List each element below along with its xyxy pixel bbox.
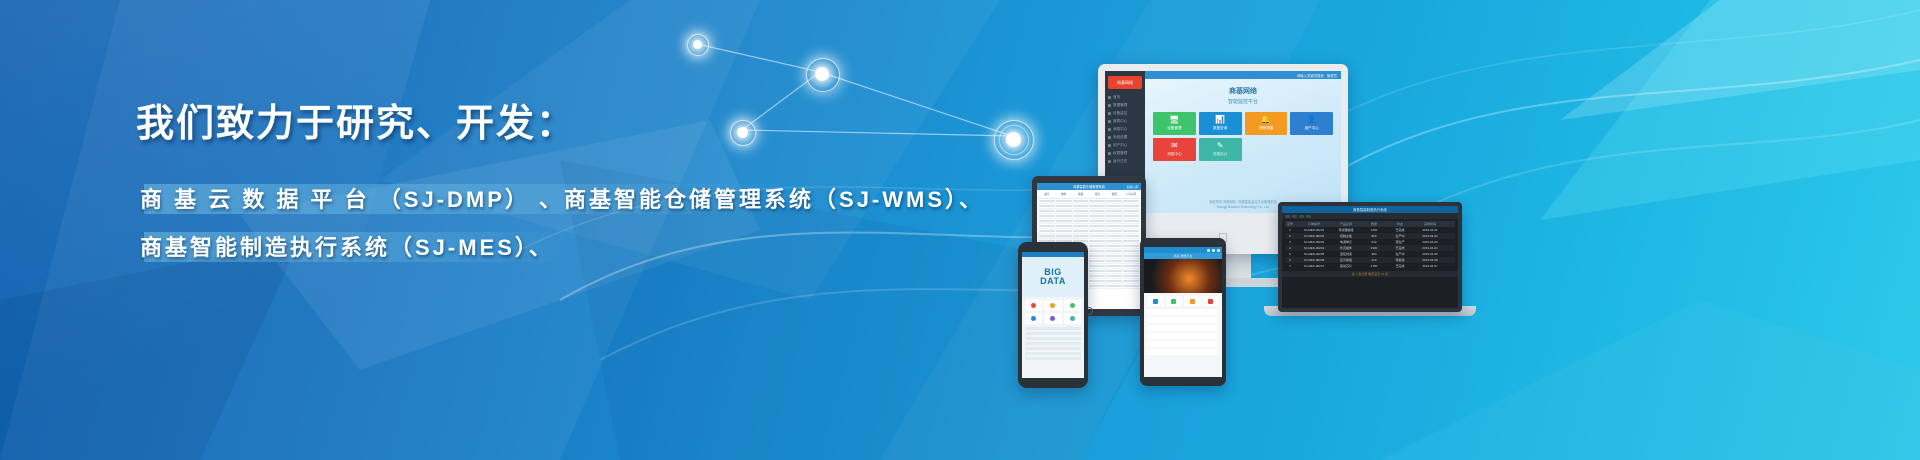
dashboard-tiles-row2: ✉ 消息中心 ✎ 在线办公 — [1153, 138, 1333, 161]
page-title: 我们致力于研究、开发： — [136, 92, 576, 147]
app-icon — [1208, 299, 1213, 304]
wms-action-button[interactable]: 新增入库 — [1127, 185, 1138, 189]
table-cell — [1089, 250, 1105, 252]
sidebar-item-label: 首页 — [1113, 95, 1120, 100]
bullet-icon — [1108, 96, 1111, 99]
table-cell: 7 — [1285, 264, 1295, 268]
phone-app-4[interactable] — [1044, 313, 1061, 324]
table-cell: SJ-MES-00233 — [1297, 240, 1331, 244]
battery-icon — [1217, 249, 1220, 252]
app-icon — [1050, 316, 1055, 321]
table-cell: 1200 — [1361, 228, 1387, 232]
table-cell — [1089, 275, 1105, 277]
table-row[interactable]: 7SJ-MES-00237驱动芯片1750已完成2019-04-07 — [1285, 263, 1455, 269]
table-cell — [1039, 225, 1055, 227]
table-cell — [1039, 200, 1055, 202]
table-cell: 连接线束 — [1333, 252, 1359, 256]
wms-title-bar: 商基智能仓储管理系统 新增入库 — [1037, 183, 1141, 190]
table-cell: 2019-04-04 — [1413, 246, 1447, 250]
tile-label: 在线办公 — [1213, 152, 1227, 157]
sidebar-item-label: 用户中心 — [1113, 143, 1127, 148]
table-cell: 410 — [1361, 258, 1387, 262]
dashboard-main: 请输入关键词搜索 管理员 商基网络 智能监控平台 🖥 设备管理 📊 数据查询 — [1145, 71, 1341, 213]
table-cell: 生产中 — [1389, 234, 1411, 238]
list-item[interactable] — [1147, 349, 1219, 355]
table-cell — [1123, 230, 1139, 232]
sidebar-item-8[interactable]: 运行日志 — [1108, 157, 1142, 165]
mes-table-body: 1SJ-MES-00231传感器模组1200已完成2019-04-012SJ-M… — [1285, 227, 1455, 269]
phone-app-0[interactable] — [1025, 300, 1042, 311]
sidebar-item-1[interactable]: 数据管理 — [1108, 101, 1142, 109]
banner-copy: 我们致力于研究、开发： 商 基 云 数 据 平 台 （SJ-DMP） 、商基智能… — [0, 0, 1000, 460]
table-cell: 驱动芯片 — [1333, 264, 1359, 268]
sidebar-item-7[interactable]: 权限管理 — [1108, 149, 1142, 157]
table-cell — [1073, 200, 1089, 202]
sidebar-item-label: 系统设置 — [1113, 135, 1127, 140]
table-cell — [1039, 230, 1055, 232]
sidebar-item-5[interactable]: 系统设置 — [1108, 133, 1142, 141]
table-cell — [1123, 275, 1139, 277]
table-cell — [1089, 260, 1105, 262]
list-item[interactable] — [1025, 337, 1081, 340]
table-cell — [1106, 280, 1122, 282]
table-cell — [1123, 250, 1139, 252]
table-cell: 5 — [1285, 252, 1295, 256]
column-header: 入库时间 — [1123, 192, 1139, 196]
column-header: 产品名称 — [1333, 222, 1359, 226]
app-icon — [1031, 303, 1036, 308]
bullet-icon — [1108, 112, 1111, 115]
table-cell — [1123, 200, 1139, 202]
table-cell: SJ-MES-00232 — [1297, 234, 1331, 238]
phone-list — [1022, 327, 1084, 360]
table-cell: 1 — [1285, 228, 1295, 232]
table-cell — [1089, 225, 1105, 227]
table-cell — [1089, 235, 1105, 237]
mes-footer: 共 7 条记录 每页显示 20 条 — [1282, 271, 1458, 277]
table-cell: 6 — [1285, 258, 1295, 262]
media-app-3[interactable] — [1203, 296, 1220, 306]
phone-screen: BIG DATA — [1022, 252, 1084, 378]
table-cell: 860 — [1361, 234, 1387, 238]
media-hero-image — [1144, 259, 1222, 293]
product-line-1: 商 基 云 数 据 平 台 （SJ-DMP） 、商基智能仓储管理系统（SJ-WM… — [140, 178, 984, 218]
edit-icon: ✎ — [1217, 142, 1224, 150]
table-cell: 4 — [1285, 246, 1295, 250]
table-cell — [1106, 240, 1122, 242]
product-list: 商 基 云 数 据 平 台 （SJ-DMP） 、商基智能仓储管理系统（SJ-WM… — [140, 178, 984, 266]
tile-online-office[interactable]: ✎ 在线办公 — [1199, 138, 1242, 161]
table-cell — [1089, 285, 1105, 287]
table-cell — [1089, 255, 1105, 257]
product-line-2-text: 商基智能制造执行系统（SJ-MES）、 — [140, 230, 554, 262]
table-cell — [1089, 205, 1105, 207]
laptop-mockup: 商基智能制造执行系统 序号 订单编号 产品名称 数量 状态 完成时间 — [1272, 202, 1468, 322]
tile-device-manage[interactable]: 🖥 设备管理 — [1153, 112, 1196, 135]
bullet-icon — [1108, 136, 1111, 139]
table-cell: 2300 — [1361, 246, 1387, 250]
table-cell: 3 — [1285, 240, 1295, 244]
app-icon — [1153, 299, 1158, 304]
tile-label: 设备管理 — [1167, 126, 1181, 131]
hero-banner: 我们致力于研究、开发： 商 基 云 数 据 平 台 （SJ-DMP） 、商基智能… — [0, 0, 1920, 460]
table-cell — [1123, 245, 1139, 247]
column-header: 批次 — [1089, 192, 1105, 196]
app-icon — [1171, 299, 1176, 304]
product-line-1-text: 商 基 云 数 据 平 台 （SJ-DMP） 、商基智能仓储管理系统（SJ-WM… — [140, 182, 984, 214]
table-cell — [1089, 210, 1105, 212]
sidebar-item-label: 消息中心 — [1113, 127, 1127, 132]
bullet-icon — [1108, 152, 1111, 155]
table-cell — [1039, 215, 1055, 217]
table-cell — [1056, 235, 1072, 237]
table-cell — [1073, 235, 1089, 237]
tile-message-center[interactable]: ✉ 消息中心 — [1153, 138, 1196, 161]
mail-icon: ✉ — [1171, 142, 1178, 150]
dashboard-title: 商基网络 — [1145, 86, 1341, 96]
table-cell: 2019-04-03 — [1413, 240, 1447, 244]
user-icon: 👤 — [1307, 116, 1317, 124]
table-cell — [1123, 260, 1139, 262]
list-item[interactable] — [1025, 342, 1081, 345]
table-cell: 2 — [1285, 234, 1295, 238]
table-cell — [1106, 245, 1122, 247]
bullet-icon — [1108, 144, 1111, 147]
table-cell — [1123, 280, 1139, 282]
list-item[interactable] — [1025, 347, 1081, 350]
table-cell — [1056, 230, 1072, 232]
dashboard-topbar: 请输入关键词搜索 管理员 — [1145, 71, 1341, 79]
table-cell: 控制主板 — [1333, 234, 1359, 238]
table-cell — [1106, 265, 1122, 267]
sidebar-item-6[interactable]: 用户中心 — [1108, 141, 1142, 149]
table-cell: 传感器模组 — [1333, 228, 1359, 232]
table-cell: 2019-04-02 — [1413, 234, 1447, 238]
table-cell — [1073, 215, 1089, 217]
table-cell: SJ-MES-00231 — [1297, 228, 1331, 232]
column-header: 编号 — [1039, 192, 1055, 196]
sidebar-item-label: 报表中心 — [1113, 119, 1127, 124]
table-cell — [1039, 205, 1055, 207]
list-item[interactable] — [1147, 317, 1219, 323]
list-item[interactable] — [1025, 352, 1081, 355]
table-cell — [1106, 275, 1122, 277]
tile-label: 用户中心 — [1304, 126, 1318, 131]
table-cell: 待检验 — [1389, 258, 1411, 262]
table-cell: SJ-MES-00237 — [1297, 264, 1331, 268]
table-cell: 电源单元 — [1333, 240, 1359, 244]
bigdata-line-2: DATA — [1040, 277, 1066, 286]
table-cell: 2019-04-06 — [1413, 258, 1447, 262]
table-cell — [1123, 210, 1139, 212]
list-item[interactable] — [1147, 341, 1219, 347]
phone-icon-grid — [1022, 297, 1084, 327]
table-cell: 2019-04-07 — [1413, 264, 1447, 268]
table-cell — [1056, 215, 1072, 217]
wms-title: 商基智能仓储管理系统 — [1073, 184, 1105, 189]
bullet-icon — [1108, 128, 1111, 131]
table-cell — [1106, 250, 1122, 252]
table-cell — [1056, 200, 1072, 202]
bullet-icon — [1108, 160, 1111, 163]
table-cell — [1106, 215, 1122, 217]
table-cell — [1073, 205, 1089, 207]
media-app-1[interactable] — [1166, 296, 1183, 306]
table-cell: 显示模组 — [1333, 258, 1359, 262]
sidebar-item-3[interactable]: 报表中心 — [1108, 117, 1142, 125]
table-cell — [1039, 220, 1055, 222]
sidebar-item-4[interactable]: 消息中心 — [1108, 125, 1142, 133]
user-menu[interactable]: 管理员 — [1327, 73, 1337, 78]
table-cell: 外壳组件 — [1333, 246, 1359, 250]
table-cell — [1106, 285, 1122, 287]
search-input[interactable]: 请输入关键词搜索 — [1297, 73, 1324, 78]
table-cell: 2019-04-05 — [1413, 252, 1447, 256]
tablet-media-mockup: 商基 智能平台 — [1140, 238, 1226, 386]
table-cell — [1123, 255, 1139, 257]
toolbar-button-icon[interactable] — [1306, 215, 1311, 218]
table-cell — [1089, 265, 1105, 267]
table-cell — [1056, 205, 1072, 207]
table-cell — [1106, 205, 1122, 207]
tile-label: 数据查询 — [1213, 126, 1227, 131]
dashboard-subtitle: 智能监控平台 — [1145, 98, 1341, 105]
table-cell — [1089, 200, 1105, 202]
table-cell — [1123, 220, 1139, 222]
sidebar-logo: 商基网络 — [1108, 76, 1142, 89]
tile-alarm[interactable]: 🔔 报警提醒 — [1245, 112, 1288, 135]
table-cell: 已完成 — [1389, 264, 1411, 268]
table-cell — [1123, 270, 1139, 272]
table-cell — [1089, 270, 1105, 272]
table-cell — [1073, 210, 1089, 212]
wifi-icon — [1212, 249, 1215, 252]
table-cell — [1123, 225, 1139, 227]
table-cell: 已完成 — [1389, 228, 1411, 232]
mes-title-bar: 商基智能制造执行系统 — [1282, 206, 1458, 213]
sidebar-item-label: 数据管理 — [1113, 103, 1127, 108]
phone-app-3[interactable] — [1025, 313, 1042, 324]
sidebar-item-0[interactable]: 首页 — [1108, 93, 1142, 101]
table-cell: 待生产 — [1389, 240, 1411, 244]
column-header: 物料 — [1056, 192, 1072, 196]
bullet-icon — [1108, 120, 1111, 123]
wms-table-header: 编号 物料 规格 批次 数量 入库时间 — [1037, 190, 1141, 199]
table-cell — [1039, 235, 1055, 237]
table-cell: SJ-MES-00235 — [1297, 252, 1331, 256]
media-app-2[interactable] — [1184, 296, 1201, 306]
table-cell — [1089, 220, 1105, 222]
table-cell — [1106, 230, 1122, 232]
column-header: 数量 — [1361, 222, 1387, 226]
table-cell — [1123, 235, 1139, 237]
table-cell — [1106, 225, 1122, 227]
table-cell — [1089, 230, 1105, 232]
table-cell — [1123, 240, 1139, 242]
table-cell — [1089, 215, 1105, 217]
device-mockups: 商基网络 首页 数据管理 设备监控 报表中心 — [1010, 38, 1540, 368]
column-header: 规格 — [1073, 192, 1089, 196]
tablet-media-screen: 商基 智能平台 — [1144, 247, 1222, 377]
table-cell: SJ-MES-00236 — [1297, 258, 1331, 262]
table-cell — [1123, 205, 1139, 207]
phone-mockup: BIG DATA — [1018, 242, 1088, 388]
table-cell — [1073, 220, 1089, 222]
list-item[interactable] — [1025, 357, 1081, 360]
table-cell — [1123, 285, 1139, 287]
list-item[interactable] — [1147, 309, 1219, 315]
list-item[interactable] — [1147, 333, 1219, 339]
column-header: 状态 — [1389, 222, 1411, 226]
table-cell — [1089, 245, 1105, 247]
table-cell — [1039, 210, 1055, 212]
app-icon — [1050, 303, 1055, 308]
bullet-icon — [1108, 104, 1111, 107]
app-icon — [1190, 299, 1195, 304]
laptop-screen: 商基智能制造执行系统 序号 订单编号 产品名称 数量 状态 完成时间 — [1278, 202, 1462, 312]
phone-app-1[interactable] — [1044, 300, 1061, 311]
table-cell — [1106, 260, 1122, 262]
table-cell — [1123, 265, 1139, 267]
table-cell: 540 — [1361, 240, 1387, 244]
column-header: 订单编号 — [1297, 222, 1331, 226]
toolbar-button-icon[interactable] — [1285, 215, 1290, 218]
app-icon — [1070, 316, 1075, 321]
table-cell: 已完成 — [1389, 246, 1411, 250]
table-cell: 980 — [1361, 252, 1387, 256]
app-icon — [1031, 316, 1036, 321]
table-cell — [1106, 270, 1122, 272]
app-icon — [1070, 303, 1075, 308]
toolbar-button-icon[interactable] — [1292, 215, 1297, 218]
sidebar-item-label: 设备监控 — [1113, 111, 1127, 116]
table-cell — [1056, 225, 1072, 227]
phone-app-2[interactable] — [1064, 300, 1081, 311]
tile-label: 消息中心 — [1167, 152, 1181, 157]
table-cell — [1106, 235, 1122, 237]
bigdata-graphic: BIG DATA — [1022, 257, 1084, 297]
monitor-icon: 🖥 — [1169, 116, 1179, 124]
table-cell — [1123, 215, 1139, 217]
chart-icon: 📊 — [1215, 116, 1225, 124]
toolbar-button-icon[interactable] — [1299, 215, 1304, 218]
dashboard-tiles-row1: 🖥 设备管理 📊 数据查询 🔔 报警提醒 👤 — [1153, 112, 1333, 135]
table-cell — [1056, 210, 1072, 212]
table-cell — [1106, 255, 1122, 257]
mes-table: 序号 订单编号 产品名称 数量 状态 完成时间 1SJ-MES-00231传感器… — [1282, 219, 1458, 271]
table-cell — [1056, 220, 1072, 222]
table-cell — [1073, 225, 1089, 227]
tile-data-query[interactable]: 📊 数据查询 — [1199, 112, 1242, 135]
media-app-0[interactable] — [1147, 296, 1164, 306]
table-cell: 2019-04-01 — [1413, 228, 1447, 232]
sidebar-item-2[interactable]: 设备监控 — [1108, 109, 1142, 117]
list-item[interactable] — [1147, 325, 1219, 331]
table-cell — [1106, 200, 1122, 202]
bell-icon: 🔔 — [1261, 116, 1271, 124]
media-icon-row — [1144, 293, 1222, 309]
column-header: 数量 — [1106, 192, 1122, 196]
column-header: 完成时间 — [1413, 222, 1447, 226]
table-cell — [1106, 210, 1122, 212]
list-item[interactable] — [1025, 332, 1081, 335]
table-cell — [1089, 280, 1105, 282]
tile-user-center[interactable]: 👤 用户中心 — [1290, 112, 1333, 135]
list-item[interactable] — [1025, 327, 1081, 330]
signal-icon — [1207, 249, 1210, 252]
media-list — [1144, 309, 1222, 355]
table-cell: 生产中 — [1389, 252, 1411, 256]
sidebar-item-label: 权限管理 — [1113, 151, 1127, 156]
table-cell — [1073, 230, 1089, 232]
table-cell: 1750 — [1361, 264, 1387, 268]
column-header: 序号 — [1285, 222, 1295, 226]
table-cell: SJ-MES-00234 — [1297, 246, 1331, 250]
tile-label: 报警提醒 — [1259, 126, 1273, 131]
sidebar-item-label: 运行日志 — [1113, 159, 1127, 164]
phone-app-5[interactable] — [1064, 313, 1081, 324]
table-cell — [1089, 240, 1105, 242]
product-line-2: 商基智能制造执行系统（SJ-MES）、 — [140, 226, 984, 266]
table-cell — [1106, 220, 1122, 222]
